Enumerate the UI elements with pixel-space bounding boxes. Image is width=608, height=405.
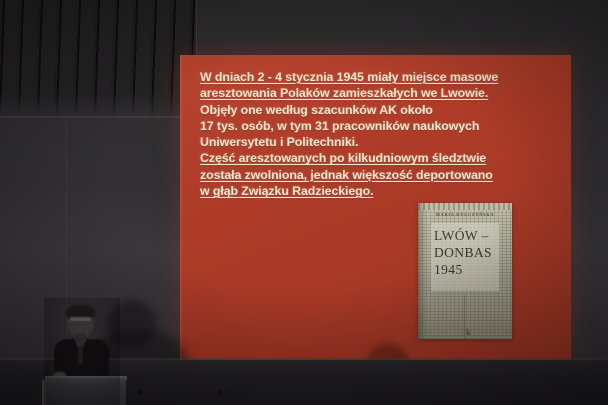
floor-fitting-left [139,390,142,395]
slide-line-6: Część aresztowanych po kilkudniowym śled… [200,150,562,166]
lecture-hall-photo: W dniach 2 - 4 stycznia 1945 miały miejs… [0,0,608,405]
wall-ledge [0,116,200,118]
slide-line-7: została zwolniona, jednak większość depo… [200,167,562,183]
projected-slide: W dniach 2 - 4 stycznia 1945 miały miejs… [180,55,571,362]
book-cover-image: MARIA KULCZYŃSKA LWÓW – DONBAS 1945 k [418,203,512,339]
book-shading [418,203,512,339]
glasses-icon [70,317,91,321]
slat-panel-shadow [0,92,200,126]
floor-fitting-right [218,390,221,395]
slide-text-block: W dniach 2 - 4 stycznia 1945 miały miejs… [200,69,562,199]
slide-line-8: w głąb Związku Radzieckiego. [200,183,562,199]
slide-line-4: 17 tys. osób, w tym 31 pracowników nauko… [200,118,562,134]
slide-left-highlight [180,55,183,362]
slide-line-1: W dniach 2 - 4 stycznia 1945 miały miejs… [200,69,562,85]
podium [46,378,126,405]
slide-line-3: Objęły one według szacunków AK około [200,102,562,118]
presenter-tie [78,347,83,364]
presenter [52,306,112,405]
slide-line-5: Uniwersytetu i Politechniki. [200,134,562,150]
slide-line-2: aresztowania Polaków zamieszkałych we Lw… [200,85,562,101]
